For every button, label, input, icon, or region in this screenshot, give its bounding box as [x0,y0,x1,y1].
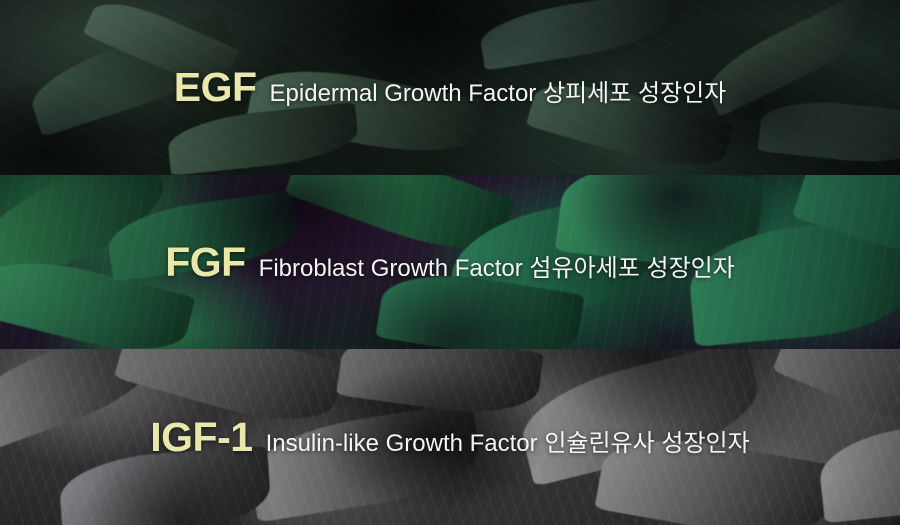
acronym-egf: EGF [174,67,257,108]
caption-fgf: FGF Fibroblast Growth Factor 섬유아세포 성장인자 [165,242,735,283]
description-egf: Epidermal Growth Factor 상피세포 성장인자 [270,82,727,106]
growth-factor-banner: EGF Epidermal Growth Factor 상피세포 성장인자 FG… [0,0,900,525]
acronym-fgf: FGF [165,242,245,283]
description-igf1: Insulin-like Growth Factor 인슐린유사 성장인자 [266,432,750,456]
band-fgf[interactable]: FGF Fibroblast Growth Factor 섬유아세포 성장인자 [0,175,900,349]
description-fgf: Fibroblast Growth Factor 섬유아세포 성장인자 [259,257,735,281]
acronym-igf1: IGF-1 [150,417,252,458]
caption-igf1: IGF-1 Insulin-like Growth Factor 인슐린유사 성… [150,417,749,458]
band-igf1[interactable]: IGF-1 Insulin-like Growth Factor 인슐린유사 성… [0,349,900,525]
band-egf[interactable]: EGF Epidermal Growth Factor 상피세포 성장인자 [0,0,900,175]
caption-egf: EGF Epidermal Growth Factor 상피세포 성장인자 [174,67,727,108]
